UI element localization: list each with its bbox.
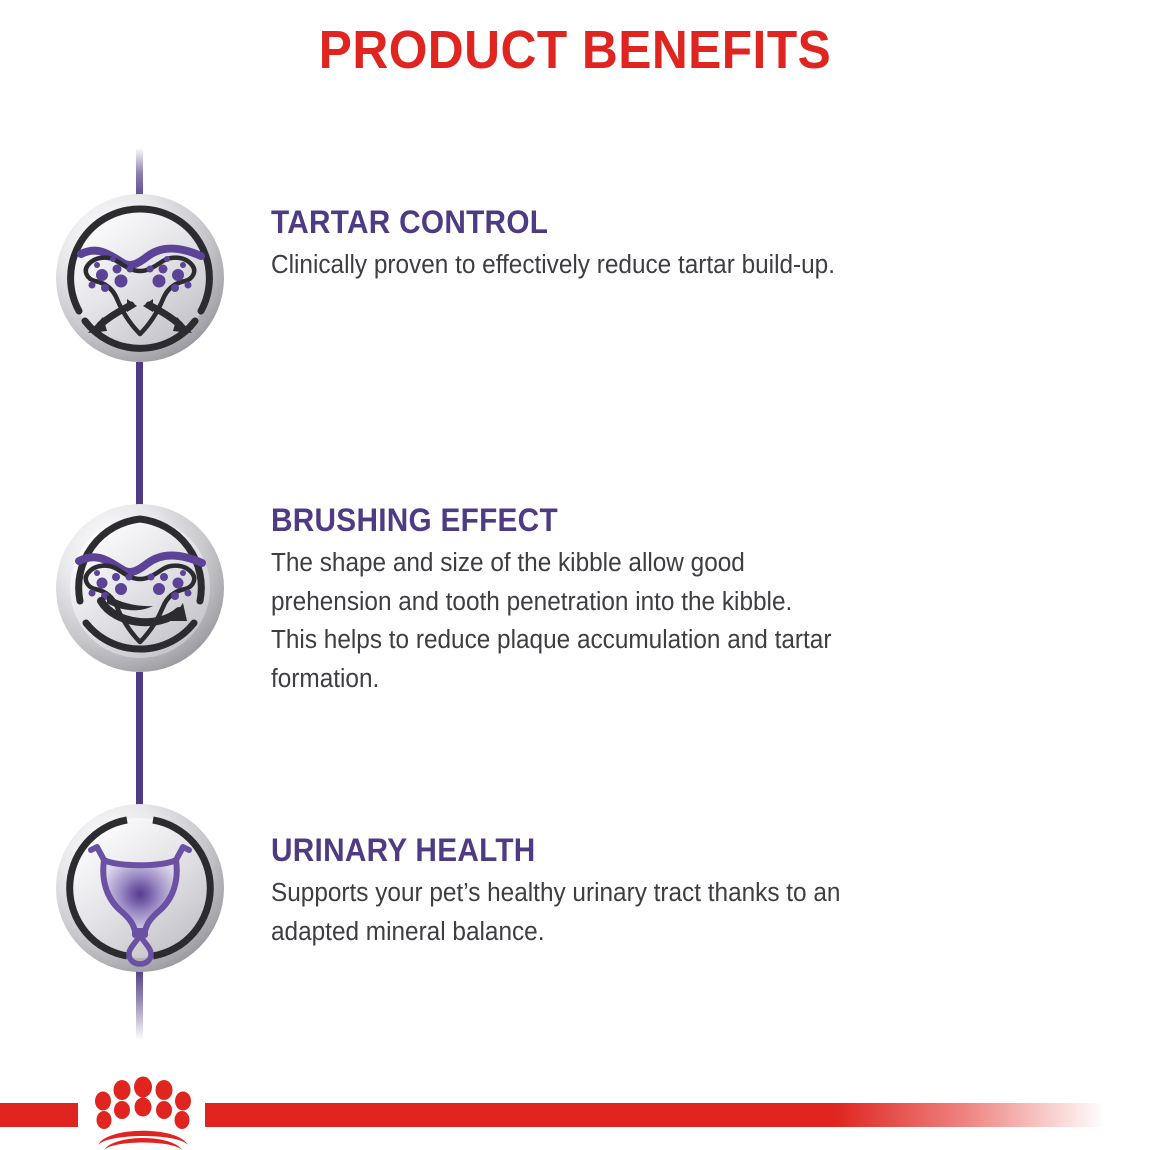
page-title: PRODUCT BENEFITS (46, 22, 1104, 79)
footer (0, 1040, 1150, 1150)
brushing-effect-icon (55, 503, 225, 673)
footer-bar-left (0, 1103, 78, 1127)
benefit-heading: BRUSHING EFFECT (271, 503, 1043, 539)
connector-line-middle-1 (136, 362, 143, 512)
benefit-body: Clinically proven to effectively reduce … (271, 246, 1064, 285)
benefit-heading: URINARY HEALTH (271, 833, 1043, 869)
benefit-text-urinary-health: URINARY HEALTH Supports your pet’s healt… (271, 833, 1101, 951)
connector-line-middle-2 (136, 672, 143, 814)
benefit-heading: TARTAR CONTROL (271, 205, 1043, 241)
benefit-item-tartar-control: TARTAR CONTROL Clinically proven to effe… (0, 193, 1150, 373)
benefit-text-tartar-control: TARTAR CONTROL Clinically proven to effe… (271, 205, 1101, 285)
urinary-health-icon (55, 803, 225, 973)
footer-bar-right (205, 1103, 1105, 1127)
benefit-body: The shape and size of the kibble allow g… (271, 544, 1064, 699)
benefit-text-brushing-effect: BRUSHING EFFECT The shape and size of th… (271, 503, 1101, 699)
royal-canin-crown-logo (80, 1076, 206, 1150)
benefit-body: Supports your pet’s healthy urinary trac… (271, 874, 1064, 952)
benefit-item-brushing-effect: BRUSHING EFFECT The shape and size of th… (0, 503, 1150, 683)
tartar-control-icon (55, 193, 225, 363)
benefit-item-urinary-health: URINARY HEALTH Supports your pet’s healt… (0, 803, 1150, 983)
